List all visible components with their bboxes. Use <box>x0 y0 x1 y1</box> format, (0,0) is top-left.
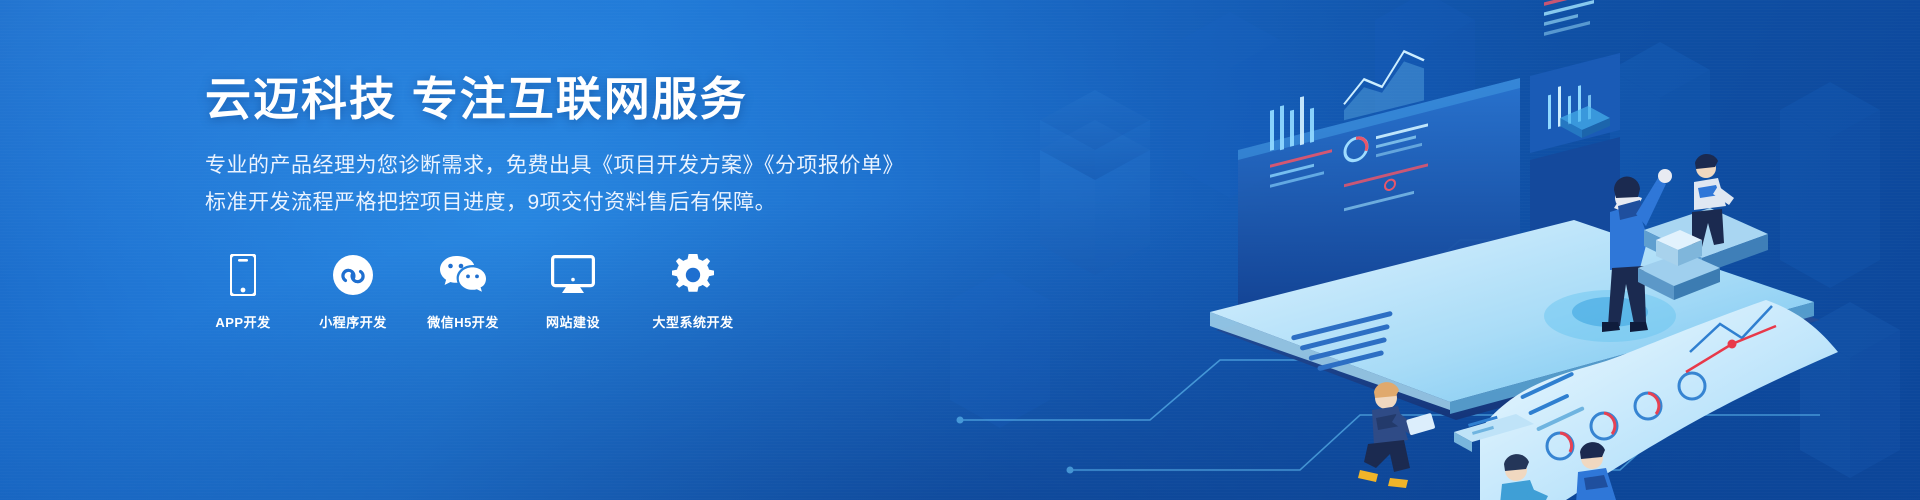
service-label-app: APP开发 <box>215 312 270 331</box>
banner-subtitle-line-2: 标准开发流程严格把控项目进度，9项交付资料售后有保障。 <box>205 185 965 222</box>
service-item-website[interactable]: 网站建设 <box>535 252 611 331</box>
banner-headline: 云迈科技 专注互联网服务 <box>205 72 965 126</box>
mini-program-icon <box>332 252 374 298</box>
hero-banner: 云迈科技 专注互联网服务 专业的产品经理为您诊断需求，免费出具《项目开发方案》《… <box>0 0 1920 500</box>
gear-icon <box>672 252 714 298</box>
mobile-phone-icon <box>230 252 256 298</box>
service-item-mini-program[interactable]: 小程序开发 <box>315 252 391 331</box>
banner-content: 云迈科技 专注互联网服务 专业的产品经理为您诊断需求，免费出具《项目开发方案》《… <box>205 72 965 331</box>
service-label-wechat: 微信H5开发 <box>427 312 499 331</box>
wechat-icon <box>439 252 487 298</box>
service-item-app[interactable]: APP开发 <box>205 252 281 331</box>
service-item-wechat[interactable]: 微信H5开发 <box>425 252 501 331</box>
service-label-mini-program: 小程序开发 <box>319 312 387 331</box>
service-label-website: 网站建设 <box>546 312 600 331</box>
service-item-large-system[interactable]: 大型系统开发 <box>645 252 741 331</box>
banner-subtitle: 专业的产品经理为您诊断需求，免费出具《项目开发方案》《分项报价单》 标准开发流程… <box>205 148 965 222</box>
banner-subtitle-line-1: 专业的产品经理为您诊断需求，免费出具《项目开发方案》《分项报价单》 <box>205 148 965 185</box>
service-icon-row: APP开发 小程序开发 <box>205 252 965 331</box>
isometric-tech-teamwork-illustration <box>920 0 1920 500</box>
monitor-icon <box>551 252 595 298</box>
service-label-large-system: 大型系统开发 <box>652 312 733 331</box>
